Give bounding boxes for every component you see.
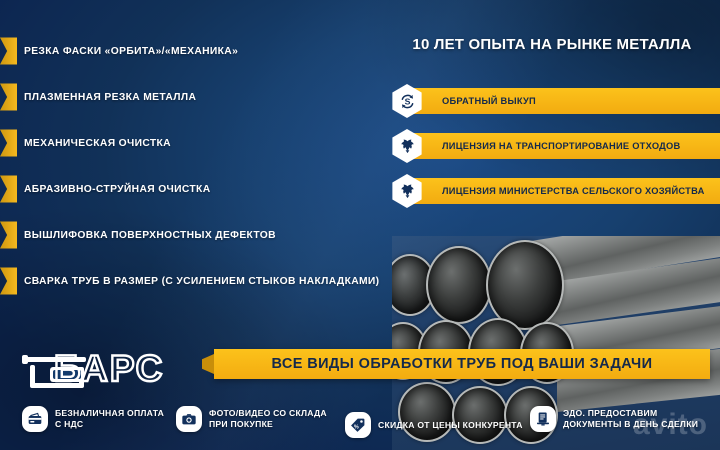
camera-icon [176,406,202,432]
company-logo: БАРС [20,345,200,393]
service-label: ВЫШЛИФОВКА ПОВЕРХНОСТНЫХ ДЕФЕКТОВ [24,230,276,241]
service-label: АБРАЗИВНО-СТРУЙНАЯ ОЧИСТКА [24,184,210,195]
service-list-item: МЕХАНИЧЕСКАЯ ОЧИСТКА [0,120,380,166]
service-list-item: ПЛАЗМЕННАЯ РЕЗКА МЕТАЛЛА [0,74,380,120]
yellow-tab-marker-icon [0,222,17,249]
feature-label: ЭДО. ПРЕДОСТАВИМ ДОКУМЕНТЫ В ДЕНЬ СДЕЛКИ [563,408,698,430]
feature-row: БЕЗНАЛИЧНАЯ ОПЛАТА С НДС ФОТО/ВИДЕО СО С… [0,400,720,450]
badge-label: ЛИЦЕНЗИЯ НА ТРАНСПОРТИРОВАНИЕ ОТХОДОВ [442,141,681,151]
feature-label-line1: БЕЗНАЛИЧНАЯ ОПЛАТА [55,408,164,418]
logo-wordmark: БАРС [54,347,164,391]
feature-item: БЕЗНАЛИЧНАЯ ОПЛАТА С НДС [22,406,164,432]
document-monitor-icon [530,406,556,432]
pipe-end [426,246,492,324]
main-slogan-banner: ВСЕ ВИДЫ ОБРАБОТКИ ТРУБ ПОД ВАШИ ЗАДАЧИ [214,349,710,379]
feature-item: % СКИДКА ОТ ЦЕНЫ КОНКУРЕНТА [345,412,523,438]
feature-label: СКИДКА ОТ ЦЕНЫ КОНКУРЕНТА [378,420,523,431]
logo-pipe-segment [22,355,28,364]
service-label: МЕХАНИЧЕСКАЯ ОЧИСТКА [24,138,171,149]
feature-label-line2: ПРИ ПОКУПКЕ [209,419,273,429]
headline-text: 10 ЛЕТ ОПЫТА НА РЫНКЕ МЕТАЛЛА [392,36,712,53]
service-list-item: ВЫШЛИФОВКА ПОВЕРХНОСТНЫХ ДЕФЕКТОВ [0,212,380,258]
yellow-tab-marker-icon [0,176,17,203]
badge-label: ЛИЦЕНЗИЯ МИНИСТЕРСТВА СЕЛЬСКОГО ХОЗЯЙСТВ… [442,186,705,196]
main-slogan-text: ВСЕ ВИДЫ ОБРАБОТКИ ТРУБ ПОД ВАШИ ЗАДАЧИ [272,356,653,372]
credential-badge-list: ОБРАТНЫЙ ВЫКУП S ЛИЦЕНЗИЯ НА ТРАНСПОРТИР… [390,84,720,219]
credential-badge: ОБРАТНЫЙ ВЫКУП S [390,84,720,129]
yellow-tab-marker-icon [0,38,17,65]
badge-label: ОБРАТНЫЙ ВЫКУП [442,96,536,106]
feature-label: БЕЗНАЛИЧНАЯ ОПЛАТА С НДС [55,408,164,430]
badge-ribbon: ОБРАТНЫЙ ВЫКУП [404,88,720,114]
feature-label-line1: ФОТО/ВИДЕО СО СКЛАДА [209,408,327,418]
service-list-item: СВАРКА ТРУБ В РАЗМЕР (С УСИЛЕНИЕМ СТЫКОВ… [0,258,380,304]
feature-item: ФОТО/ВИДЕО СО СКЛАДА ПРИ ПОКУПКЕ [176,406,327,432]
feature-item: ЭДО. ПРЕДОСТАВИМ ДОКУМЕНТЫ В ДЕНЬ СДЕЛКИ [530,406,698,432]
feature-label: ФОТО/ВИДЕО СО СКЛАДА ПРИ ПОКУПКЕ [209,408,327,430]
advertisement-banner: РЕЗКА ФАСКИ «ОРБИТА»/«МЕХАНИКА» ПЛАЗМЕНН… [0,0,720,450]
feature-label-line2: С НДС [55,419,83,429]
service-label: СВАРКА ТРУБ В РАЗМЕР (С УСИЛЕНИЕМ СТЫКОВ… [24,276,379,287]
svg-text:S: S [404,96,410,106]
yellow-tab-marker-icon [0,268,17,295]
feature-label-line1: ЭДО. ПРЕДОСТАВИМ [563,408,657,418]
feature-label-line2: ДОКУМЕНТЫ В ДЕНЬ СДЕЛКИ [563,419,698,429]
credential-badge: ЛИЦЕНЗИЯ НА ТРАНСПОРТИРОВАНИЕ ОТХОДОВ [390,129,720,174]
badge-ribbon: ЛИЦЕНЗИЯ НА ТРАНСПОРТИРОВАНИЕ ОТХОДОВ [404,133,720,159]
service-list-item: АБРАЗИВНО-СТРУЙНАЯ ОЧИСТКА [0,166,380,212]
service-label: ПЛАЗМЕННАЯ РЕЗКА МЕТАЛЛА [24,92,196,103]
yellow-tab-marker-icon [0,130,17,157]
service-list: РЕЗКА ФАСКИ «ОРБИТА»/«МЕХАНИКА» ПЛАЗМЕНН… [0,28,380,304]
yellow-tab-marker-icon [0,84,17,111]
pipe-end [486,240,564,330]
price-tag-icon: % [345,412,371,438]
payment-card-icon [22,406,48,432]
feature-label-line1: СКИДКА ОТ ЦЕНЫ КОНКУРЕНТА [378,420,523,430]
service-label: РЕЗКА ФАСКИ «ОРБИТА»/«МЕХАНИКА» [24,46,238,57]
credential-badge: ЛИЦЕНЗИЯ МИНИСТЕРСТВА СЕЛЬСКОГО ХОЗЯЙСТВ… [390,174,720,219]
service-list-item: РЕЗКА ФАСКИ «ОРБИТА»/«МЕХАНИКА» [0,28,380,74]
svg-text:%: % [354,424,359,430]
badge-ribbon: ЛИЦЕНЗИЯ МИНИСТЕРСТВА СЕЛЬСКОГО ХОЗЯЙСТВ… [404,178,720,204]
